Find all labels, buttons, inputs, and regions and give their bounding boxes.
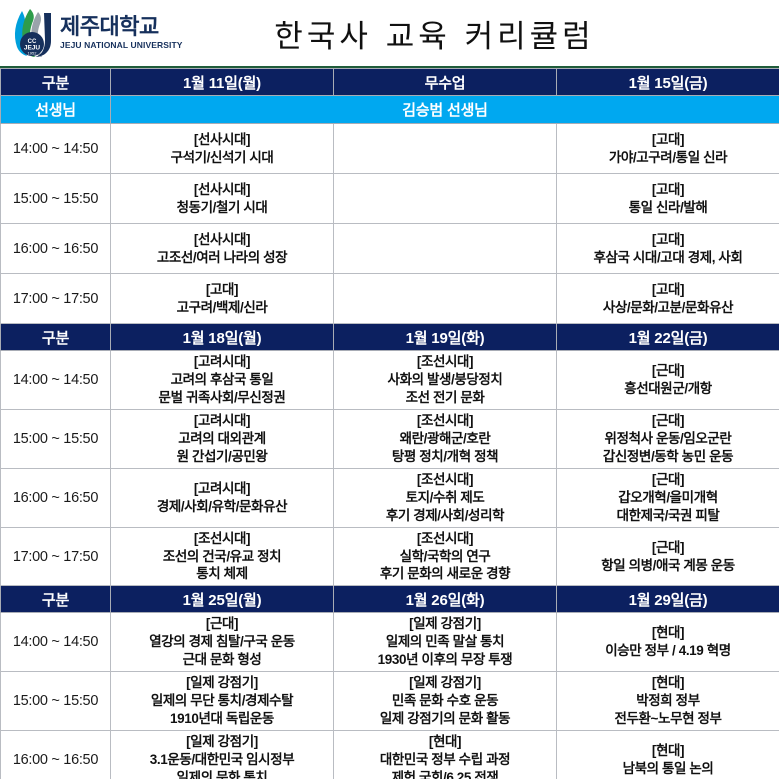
jeju-flame-logo-icon: CC JEJU 1952 <box>8 7 56 59</box>
lesson-topic-line: 고구려/백제/신라 <box>113 299 331 317</box>
lesson-topic-line: 이승만 정부 / 4.19 혁명 <box>559 642 777 660</box>
lesson-era: [조선시대] <box>336 471 554 489</box>
lesson-topic-line: 가야/고구려/통일 신라 <box>559 149 777 167</box>
lesson-topic-line: 토지/수취 제도 <box>336 489 554 507</box>
lesson-era: [고대] <box>559 181 777 199</box>
lesson-cell[interactable]: [현대]박정희 정부전두환~노무현 정부 <box>557 672 779 731</box>
lesson-era: [근대] <box>559 362 777 380</box>
lesson-era: [선사시대] <box>113 131 331 149</box>
table-row: 16:00 ~ 16:50[일제 강점기]3.1운동/대한민국 임시정부일제의 … <box>1 731 779 779</box>
lesson-topic-line: 조선 전기 문화 <box>336 389 554 407</box>
lesson-cell[interactable]: [고대]사상/문화/고분/문화유산 <box>557 274 779 324</box>
table-header-row: 구분1월 18일(월)1월 19일(화)1월 22일(금) <box>1 324 779 351</box>
lesson-era: [고대] <box>559 281 777 299</box>
lesson-cell[interactable]: [선사시대]청동기/철기 시대 <box>111 174 334 224</box>
lesson-era: [고려시대] <box>113 412 331 430</box>
lesson-topic-line: 후기 경제/사회/성리학 <box>336 507 554 525</box>
lesson-cell[interactable]: [고려시대]고려의 후삼국 통일문벌 귀족사회/무신정권 <box>111 351 334 410</box>
time-slot: 14:00 ~ 14:50 <box>1 351 111 410</box>
lesson-topic-line: 사화의 발생/붕당정치 <box>336 371 554 389</box>
lesson-topic-line: 탕평 정치/개혁 정책 <box>336 448 554 466</box>
lesson-era: [조선시대] <box>336 412 554 430</box>
lesson-cell-empty <box>334 274 557 324</box>
lesson-topic-line: 일제의 문화 통치 <box>113 769 331 779</box>
lesson-cell[interactable]: [고려시대]고려의 대외관계원 간섭기/공민왕 <box>111 409 334 468</box>
lesson-cell[interactable]: [고대]통일 신라/발해 <box>557 174 779 224</box>
header-day-1: 1월 18일(월) <box>111 324 334 351</box>
header-day-2: 1월 26일(화) <box>334 586 557 613</box>
table-row: 15:00 ~ 15:50[고려시대]고려의 대외관계원 간섭기/공민왕[조선시… <box>1 409 779 468</box>
lesson-era: [근대] <box>559 539 777 557</box>
lesson-cell[interactable]: [고대]가야/고구려/통일 신라 <box>557 124 779 174</box>
header-gubun: 구분 <box>1 324 111 351</box>
header-gubun: 구분 <box>1 586 111 613</box>
lesson-topic-line: 구석기/신석기 시대 <box>113 149 331 167</box>
lesson-topic-line: 통일 신라/발해 <box>559 199 777 217</box>
table-row: 14:00 ~ 14:50[근대]열강의 경제 침탈/구국 운동근대 문화 형성… <box>1 613 779 672</box>
lesson-cell[interactable]: [근대]위정척사 운동/임오군란갑신정변/동학 농민 운동 <box>557 409 779 468</box>
lesson-topic-line: 일제 강점기의 문화 활동 <box>336 710 554 728</box>
lesson-topic-line: 후삼국 시대/고대 경제, 사회 <box>559 249 777 267</box>
time-slot: 16:00 ~ 16:50 <box>1 468 111 527</box>
lesson-era: [일제 강점기] <box>113 733 331 751</box>
table-row: 16:00 ~ 16:50[선사시대]고조선/여러 나라의 성장[고대]후삼국 … <box>1 224 779 274</box>
lesson-cell[interactable]: [현대]대한민국 정부 수립 과정제헌 국회/6.25 전쟁 <box>334 731 557 779</box>
lesson-topic-line: 원 간섭기/공민왕 <box>113 448 331 466</box>
time-slot: 14:00 ~ 14:50 <box>1 613 111 672</box>
lesson-era: [현대] <box>559 742 777 760</box>
table-row: 14:00 ~ 14:50[고려시대]고려의 후삼국 통일문벌 귀족사회/무신정… <box>1 351 779 410</box>
time-slot: 15:00 ~ 15:50 <box>1 409 111 468</box>
lesson-topic-line: 고려의 대외관계 <box>113 430 331 448</box>
header-day-3: 1월 29일(금) <box>557 586 779 613</box>
svg-text:1952: 1952 <box>28 51 38 56</box>
page-root: CC JEJU 1952 제주대학교 JEJU NATIONAL UNIVERS… <box>0 0 779 779</box>
lesson-topic-line: 갑오개혁/을미개혁 <box>559 489 777 507</box>
lesson-cell[interactable]: [현대]이승만 정부 / 4.19 혁명 <box>557 613 779 672</box>
university-logo-block: CC JEJU 1952 제주대학교 JEJU NATIONAL UNIVERS… <box>8 7 183 59</box>
table-header-row: 구분1월 25일(월)1월 26일(화)1월 29일(금) <box>1 586 779 613</box>
teacher-label: 선생님 <box>1 96 111 124</box>
lesson-era: [조선시대] <box>336 353 554 371</box>
lesson-cell[interactable]: [조선시대]조선의 건국/유교 정치통치 체제 <box>111 527 334 586</box>
lesson-topic-line: 청동기/철기 시대 <box>113 199 331 217</box>
lesson-era: [근대] <box>559 412 777 430</box>
lesson-cell[interactable]: [조선시대]왜란/광해군/호란탕평 정치/개혁 정책 <box>334 409 557 468</box>
lesson-topic-line: 남북의 통일 논의 <box>559 760 777 778</box>
document-header: CC JEJU 1952 제주대학교 JEJU NATIONAL UNIVERS… <box>0 0 779 66</box>
table-header-row: 구분1월 11일(월)무수업1월 15일(금) <box>1 69 779 96</box>
lesson-topic-line: 실학/국학의 연구 <box>336 548 554 566</box>
lesson-topic-line: 항일 의병/애국 계몽 운동 <box>559 557 777 575</box>
lesson-topic-line: 후기 문화의 새로운 경향 <box>336 565 554 583</box>
lesson-topic-line: 흥선대원군/개항 <box>559 380 777 398</box>
lesson-topic-line: 통치 체제 <box>113 565 331 583</box>
lesson-cell[interactable]: [조선시대]실학/국학의 연구후기 문화의 새로운 경향 <box>334 527 557 586</box>
lesson-cell[interactable]: [고려시대]경제/사회/유학/문화유산 <box>111 468 334 527</box>
university-name-en: JEJU NATIONAL UNIVERSITY <box>60 41 183 50</box>
lesson-era: [고려시대] <box>113 353 331 371</box>
lesson-era: [일제 강점기] <box>336 615 554 633</box>
lesson-topic-line: 일제의 무단 통치/경제수탈 <box>113 692 331 710</box>
lesson-cell[interactable]: [조선시대]토지/수취 제도후기 경제/사회/성리학 <box>334 468 557 527</box>
lesson-cell[interactable]: [근대]열강의 경제 침탈/구국 운동근대 문화 형성 <box>111 613 334 672</box>
lesson-topic-line: 3.1운동/대한민국 임시정부 <box>113 751 331 769</box>
lesson-era: [선사시대] <box>113 231 331 249</box>
university-name: 제주대학교 JEJU NATIONAL UNIVERSITY <box>60 16 183 50</box>
time-slot: 15:00 ~ 15:50 <box>1 672 111 731</box>
header-day-2: 무수업 <box>334 69 557 96</box>
header-day-2: 1월 19일(화) <box>334 324 557 351</box>
lesson-topic-line: 제헌 국회/6.25 전쟁 <box>336 769 554 779</box>
teacher-row: 선생님김승범 선생님 <box>1 96 779 124</box>
table-row: 17:00 ~ 17:50[조선시대]조선의 건국/유교 정치통치 체제[조선시… <box>1 527 779 586</box>
lesson-topic-line: 일제의 민족 말살 통치 <box>336 633 554 651</box>
lesson-topic-line: 위정척사 운동/임오군란 <box>559 430 777 448</box>
lesson-topic-line: 열강의 경제 침탈/구국 운동 <box>113 633 331 651</box>
lesson-cell-empty <box>334 124 557 174</box>
lesson-topic-line: 갑신정변/동학 농민 운동 <box>559 448 777 466</box>
table-row: 15:00 ~ 15:50[선사시대]청동기/철기 시대[고대]통일 신라/발해 <box>1 174 779 224</box>
lesson-topic-line: 전두환~노무현 정부 <box>559 710 777 728</box>
lesson-era: [현대] <box>336 733 554 751</box>
time-slot: 16:00 ~ 16:50 <box>1 731 111 779</box>
lesson-era: [일제 강점기] <box>336 674 554 692</box>
lesson-era: [조선시대] <box>113 530 331 548</box>
lesson-topic-line: 왜란/광해군/호란 <box>336 430 554 448</box>
lesson-cell-empty <box>334 224 557 274</box>
lesson-cell[interactable]: [고대]고구려/백제/신라 <box>111 274 334 324</box>
table-row: 14:00 ~ 14:50[선사시대]구석기/신석기 시대[고대]가야/고구려/… <box>1 124 779 174</box>
lesson-cell[interactable]: [선사시대]구석기/신석기 시대 <box>111 124 334 174</box>
table-row: 16:00 ~ 16:50[고려시대]경제/사회/유학/문화유산[조선시대]토지… <box>1 468 779 527</box>
lesson-era: [조선시대] <box>336 530 554 548</box>
lesson-era: [일제 강점기] <box>113 674 331 692</box>
header-day-1: 1월 11일(월) <box>111 69 334 96</box>
lesson-era: [현대] <box>559 624 777 642</box>
lesson-topic-line: 대한민국 정부 수립 과정 <box>336 751 554 769</box>
lesson-era: [근대] <box>559 471 777 489</box>
lesson-cell[interactable]: [조선시대]사화의 발생/붕당정치조선 전기 문화 <box>334 351 557 410</box>
lesson-cell-empty <box>334 174 557 224</box>
lesson-cell[interactable]: [근대]갑오개혁/을미개혁대한제국/국권 피탈 <box>557 468 779 527</box>
lesson-topic-line: 사상/문화/고분/문화유산 <box>559 299 777 317</box>
lesson-cell[interactable]: [일제 강점기]민족 문화 수호 운동일제 강점기의 문화 활동 <box>334 672 557 731</box>
teacher-name: 김승범 선생님 <box>111 96 779 124</box>
lesson-topic-line: 민족 문화 수호 운동 <box>336 692 554 710</box>
header-gubun: 구분 <box>1 69 111 96</box>
lesson-topic-line: 대한제국/국권 피탈 <box>559 507 777 525</box>
lesson-cell[interactable]: [선사시대]고조선/여러 나라의 성장 <box>111 224 334 274</box>
time-slot: 14:00 ~ 14:50 <box>1 124 111 174</box>
table-row: 15:00 ~ 15:50[일제 강점기]일제의 무단 통치/경제수탈1910년… <box>1 672 779 731</box>
lesson-cell[interactable]: [근대]항일 의병/애국 계몽 운동 <box>557 527 779 586</box>
lesson-era: [고대] <box>559 131 777 149</box>
lesson-cell[interactable]: [근대]흥선대원군/개항 <box>557 351 779 410</box>
lesson-topic-line: 1930년 이후의 무장 투쟁 <box>336 651 554 669</box>
time-slot: 16:00 ~ 16:50 <box>1 224 111 274</box>
university-name-ko: 제주대학교 <box>60 16 183 38</box>
time-slot: 17:00 ~ 17:50 <box>1 274 111 324</box>
lesson-era: [현대] <box>559 674 777 692</box>
lesson-cell[interactable]: [일제 강점기]3.1운동/대한민국 임시정부일제의 문화 통치 <box>111 731 334 779</box>
header-day-3: 1월 22일(금) <box>557 324 779 351</box>
time-slot: 15:00 ~ 15:50 <box>1 174 111 224</box>
lesson-topic-line: 경제/사회/유학/문화유산 <box>113 498 331 516</box>
table-row: 17:00 ~ 17:50[고대]고구려/백제/신라[고대]사상/문화/고분/문… <box>1 274 779 324</box>
lesson-topic-line: 고려의 후삼국 통일 <box>113 371 331 389</box>
lesson-cell[interactable]: [일제 강점기]일제의 무단 통치/경제수탈1910년대 독립운동 <box>111 672 334 731</box>
header-day-1: 1월 25일(월) <box>111 586 334 613</box>
lesson-era: [고대] <box>559 231 777 249</box>
curriculum-table-body: 구분1월 11일(월)무수업1월 15일(금)선생님김승범 선생님14:00 ~… <box>1 69 779 779</box>
header-day-3: 1월 15일(금) <box>557 69 779 96</box>
time-slot: 17:00 ~ 17:50 <box>1 527 111 586</box>
lesson-era: [선사시대] <box>113 181 331 199</box>
lesson-topic-line: 1910년대 독립운동 <box>113 710 331 728</box>
lesson-era: [근대] <box>113 615 331 633</box>
lesson-topic-line: 고조선/여러 나라의 성장 <box>113 249 331 267</box>
lesson-era: [고대] <box>113 281 331 299</box>
lesson-topic-line: 조선의 건국/유교 정치 <box>113 548 331 566</box>
lesson-topic-line: 근대 문화 형성 <box>113 651 331 669</box>
lesson-cell[interactable]: [일제 강점기]일제의 민족 말살 통치1930년 이후의 무장 투쟁 <box>334 613 557 672</box>
curriculum-table: 구분1월 11일(월)무수업1월 15일(금)선생님김승범 선생님14:00 ~… <box>0 68 779 779</box>
lesson-era: [고려시대] <box>113 480 331 498</box>
lesson-cell[interactable]: [현대]남북의 통일 논의 <box>557 731 779 779</box>
lesson-cell[interactable]: [고대]후삼국 시대/고대 경제, 사회 <box>557 224 779 274</box>
lesson-topic-line: 문벌 귀족사회/무신정권 <box>113 389 331 407</box>
lesson-topic-line: 박정희 정부 <box>559 692 777 710</box>
